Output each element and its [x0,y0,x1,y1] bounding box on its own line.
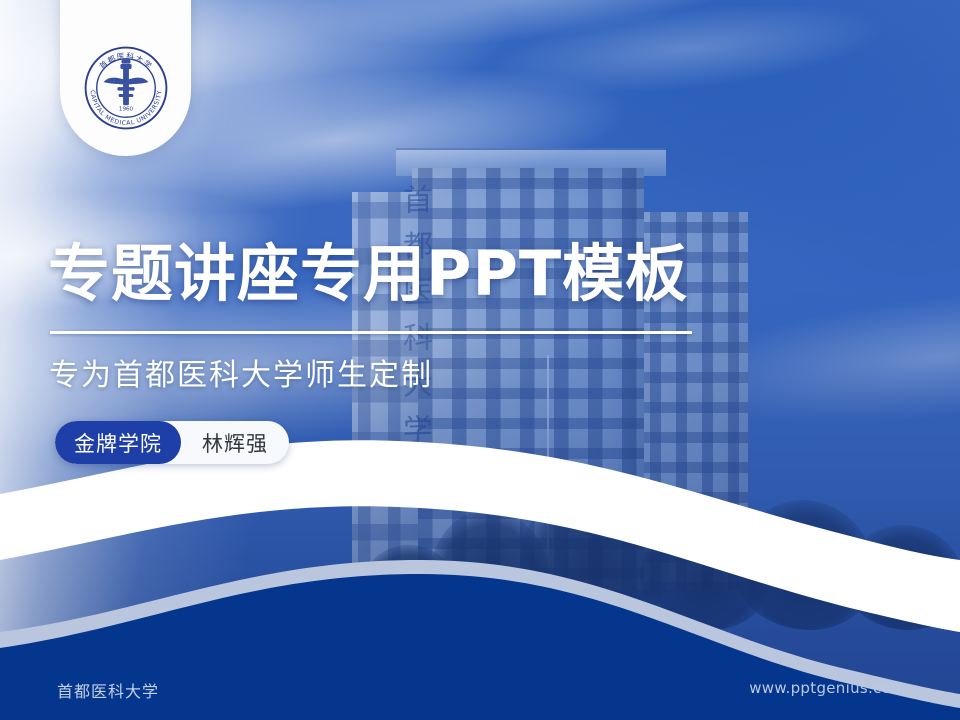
page-subtitle: 专为首都医科大学师生定制 [49,350,433,394]
logo-badge-panel: 首都医科大学 CAPITAL MEDICAL UNIVERSITY 1960 [60,0,191,156]
presenter-badge-name: 林辉强 [181,421,289,464]
footer-university-name: 首都医科大学 [57,678,159,702]
page-title: 专题讲座专用PPT模板 [48,241,688,308]
presenter-badge-category: 金牌学院 [55,421,181,464]
svg-text:1960: 1960 [118,106,133,112]
footer-website-url: www.pptgenius.com [749,679,906,697]
presentation-slide: 首都医科大学 [0,0,960,720]
title-divider [50,331,692,334]
capital-medical-university-seal-icon: 首都医科大学 CAPITAL MEDICAL UNIVERSITY 1960 [83,45,169,131]
presenter-badge[interactable]: 金牌学院 林辉强 [55,421,289,464]
